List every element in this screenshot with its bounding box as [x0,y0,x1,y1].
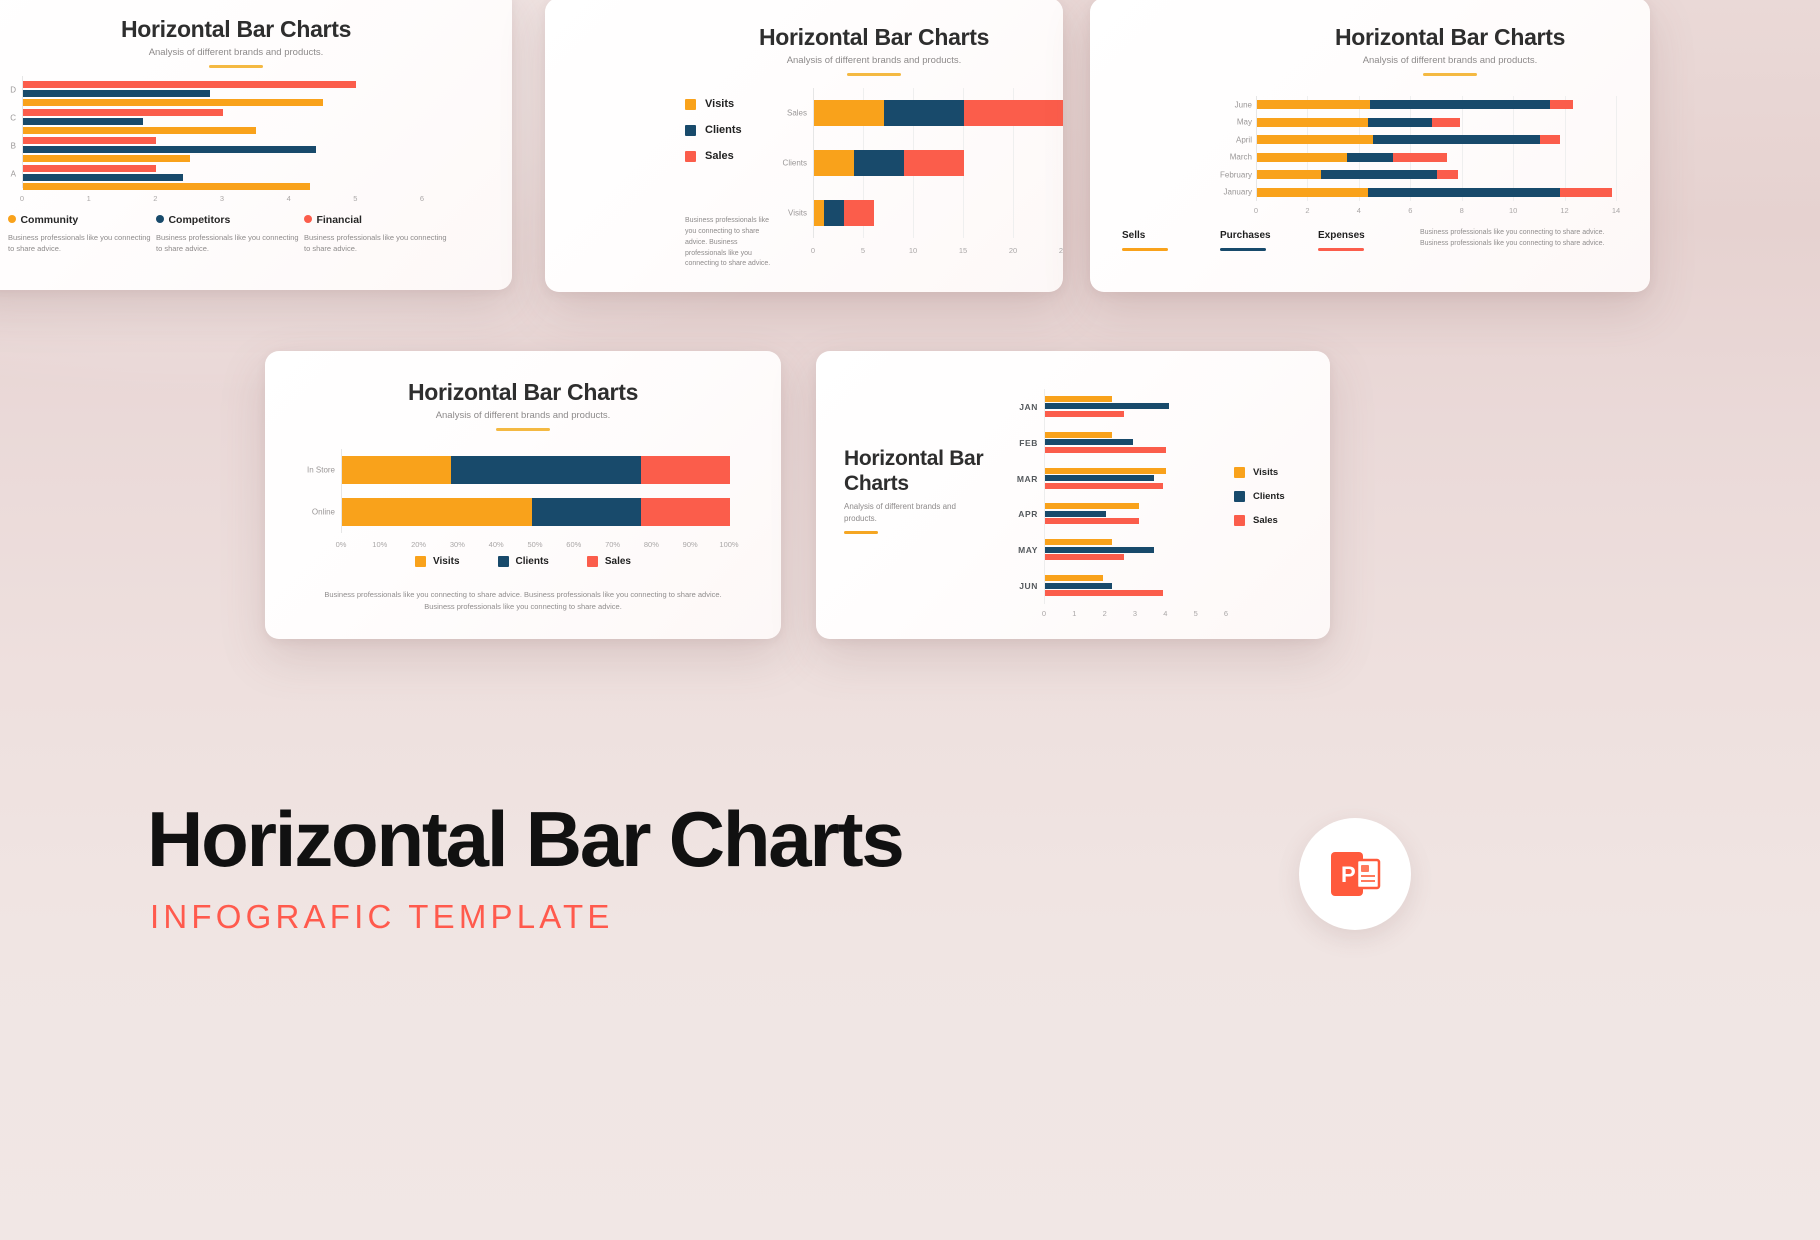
legend-item-clients[interactable]: Clients [498,556,549,567]
segment-expenses-June[interactable] [1550,100,1573,109]
card2-header: Horizontal Bar Charts Analysis of differ… [545,0,1063,76]
y-axis-line [1044,389,1045,604]
month-label-mar: MAR [998,474,1038,484]
x-tick-label: 1 [87,194,91,203]
gridline [1616,96,1617,201]
legend-item-clients[interactable]: Clients [685,124,742,136]
bar-visits-jun[interactable] [1045,575,1103,581]
expenses-color-line [1318,248,1364,251]
legend-label: Sales [1253,515,1278,526]
legend-item-financial[interactable]: Financial Business professionals like yo… [304,210,452,255]
bar-sales-jun[interactable] [1045,590,1163,596]
card2-accent-rule [847,73,901,76]
bar-clients-mar[interactable] [1045,475,1154,481]
card1-accent-rule [209,65,263,68]
x-tick-label: 3 [220,194,224,203]
slide-card-monthly-grouped[interactable]: Horizontal Bar Charts Analysis of differ… [816,351,1330,639]
card1-title: Horizontal Bar Charts [0,16,512,43]
segment-expenses-January[interactable] [1560,188,1611,197]
x-tick-label: 10% [372,540,387,549]
legend-label: Financial [316,214,362,226]
bar-sales-jan[interactable] [1045,411,1124,417]
bar-sales-may[interactable] [1045,554,1124,560]
segment-clients-online[interactable] [532,498,641,526]
legend-item-visits[interactable]: Visits [685,98,742,110]
segment-clients-Visits[interactable] [824,200,844,226]
sales-color-swatch [587,556,598,567]
bar-visits-feb[interactable] [1045,432,1112,438]
legend-label: Visits [433,556,460,567]
legend-item-purchases[interactable]: Purchases [1220,230,1318,251]
purchases-color-line [1220,248,1266,251]
bar-sales-apr[interactable] [1045,518,1139,524]
x-tick-label: 40% [489,540,504,549]
segment-visits-Clients[interactable] [814,150,854,176]
bar-competitors-C[interactable] [23,118,143,125]
legend-label: Sales [705,150,734,162]
x-tick-label: 20% [411,540,426,549]
card2-title: Horizontal Bar Charts [685,24,1063,51]
segment-sells-April[interactable] [1257,135,1373,144]
bar-competitors-A[interactable] [23,174,183,181]
powerpoint-icon: P [1299,818,1411,930]
clients-color-swatch [685,125,696,136]
x-tick-label: 4 [287,194,291,203]
segment-sells-February[interactable] [1257,170,1321,179]
x-tick-label: 25 [1059,246,1063,255]
category-label: June [1212,100,1252,109]
x-tick-label: 15 [959,246,967,255]
legend-item-visits[interactable]: Visits [415,556,460,567]
x-tick-label: 8 [1460,206,1464,215]
bar-clients-jan[interactable] [1045,403,1169,409]
legend-label: Visits [1253,467,1278,478]
card5-chart[interactable]: 0123456JANFEBMARAPRMAYJUN [1044,389,1226,604]
month-label-apr: APR [998,509,1038,519]
bar-community-B[interactable] [23,155,190,162]
page-title: Horizontal Bar Charts [147,800,1247,878]
month-label-jun: JUN [998,581,1038,591]
bar-community-A[interactable] [23,183,310,190]
card3-title: Horizontal Bar Charts [1250,24,1650,51]
segment-purchases-January[interactable] [1368,188,1561,197]
card5-subtitle: Analysis of different brands and product… [844,501,984,525]
gridline [1462,96,1463,201]
segment-clients-Clients[interactable] [854,150,904,176]
category-label: January [1212,188,1252,197]
svg-text:P: P [1341,862,1356,887]
legend-item-sales[interactable]: Sales [1234,515,1285,526]
gridline [1565,96,1566,201]
x-tick-label: 50% [527,540,542,549]
bar-visits-apr[interactable] [1045,503,1139,509]
slide-card-monthly-stacked[interactable]: Horizontal Bar Charts Analysis of differ… [1090,0,1650,292]
segment-purchases-June[interactable] [1370,100,1550,109]
slide-card-grouped-bars[interactable]: Horizontal Bar Charts Analysis of differ… [0,0,512,290]
card3-legend: Sells Purchases Expenses [1122,230,1416,251]
clients-color-swatch [1234,491,1245,502]
x-tick-label: 20 [1009,246,1017,255]
visits-color-swatch [685,99,696,110]
category-label: B [0,142,16,151]
x-tick-label: 14 [1612,206,1620,215]
card5-title: Horizontal Bar Charts [844,447,1004,497]
category-label: February [1212,170,1252,179]
legend-desc: Business professionals like you connecti… [8,232,156,255]
card1-header: Horizontal Bar Charts Analysis of differ… [0,0,512,68]
x-tick-label: 60% [566,540,581,549]
bar-visits-jan[interactable] [1045,396,1112,402]
x-tick-label: 2 [153,194,157,203]
segment-sales-Visits[interactable] [844,200,874,226]
y-axis-line [1256,96,1257,201]
gridline [1307,96,1308,201]
card1-subtitle: Analysis of different brands and product… [0,47,512,58]
card4-caption: Business professionals like you connecti… [323,589,723,613]
segment-visits-Sales[interactable] [814,100,884,126]
legend-label: Purchases [1220,230,1318,241]
x-tick-label: 6 [1224,609,1228,618]
bar-financial-C[interactable] [23,109,223,116]
category-label: A [0,170,16,179]
segment-expenses-May[interactable] [1432,118,1460,127]
bar-clients-apr[interactable] [1045,511,1106,517]
x-tick-label: 4 [1357,206,1361,215]
bar-financial-B[interactable] [23,137,156,144]
x-tick-label: 10 [909,246,917,255]
segment-sales-online[interactable] [641,498,730,526]
category-label: May [1212,118,1252,127]
x-tick-label: 100% [719,540,738,549]
segment-expenses-April[interactable] [1540,135,1561,144]
x-tick-label: 0 [1254,206,1258,215]
financial-color-dot [304,215,312,223]
card3-accent-rule [1423,73,1477,76]
month-label-jan: JAN [998,402,1038,412]
segment-clients-Sales[interactable] [884,100,964,126]
gridline [1359,96,1360,201]
segment-sells-June[interactable] [1257,100,1370,109]
card1-chart[interactable]: 0123456ABCD [22,76,422,188]
month-label-may: MAY [998,545,1038,555]
bar-visits-mar[interactable] [1045,468,1166,474]
card2-body-text: Business professionals like you connecti… [685,216,777,270]
x-tick-label: 1 [1072,609,1076,618]
legend-label: Expenses [1318,230,1416,241]
segment-sells-January[interactable] [1257,188,1368,197]
legend-label: Sales [605,556,631,567]
segment-sales-in-store[interactable] [641,456,730,484]
legend-desc: Business professionals like you connecti… [156,232,304,255]
card2-legend: Visits Clients Sales [685,98,742,176]
x-tick-label: 80% [644,540,659,549]
x-tick-label: 3 [1133,609,1137,618]
legend-label: Community [20,214,78,226]
category-label: Online [291,508,335,517]
bar-community-C[interactable] [23,127,256,134]
legend-item-sales[interactable]: Sales [685,150,742,162]
competitors-color-dot [156,215,164,223]
category-label: March [1212,153,1252,162]
x-tick-label: 5 [1194,609,1198,618]
legend-label: Sells [1122,230,1220,241]
segment-purchases-May[interactable] [1368,118,1432,127]
legend-item-expenses[interactable]: Expenses [1318,230,1416,251]
x-tick-label: 6 [1408,206,1412,215]
gridline [1410,96,1411,201]
x-tick-label: 2 [1305,206,1309,215]
bar-community-D[interactable] [23,99,323,106]
card3-subtitle: Analysis of different brands and product… [1250,55,1650,66]
card2-subtitle: Analysis of different brands and product… [685,55,1063,66]
card3-chart[interactable]: 02468101214JanuaryFebruaryMarchAprilMayJ… [1256,96,1616,201]
segment-purchases-February[interactable] [1321,170,1437,179]
card5-accent-rule [844,531,878,534]
bar-financial-A[interactable] [23,165,156,172]
x-tick-label: 4 [1163,609,1167,618]
segment-visits-in-store[interactable] [342,456,451,484]
segment-clients-in-store[interactable] [451,456,641,484]
bar-sales-mar[interactable] [1045,483,1163,489]
bar-clients-feb[interactable] [1045,439,1133,445]
card4-chart[interactable]: 0%10%20%30%40%50%60%70%80%90%100%OnlineI… [341,449,729,533]
sales-color-swatch [685,151,696,162]
card1-legend: Community Business professionals like yo… [8,210,468,255]
segment-visits-Visits[interactable] [814,200,824,226]
legend-item-clients[interactable]: Clients [1234,491,1285,502]
page-subtitle: INFOGRAFIC TEMPLATE [150,898,614,936]
category-label: Clients [779,159,807,168]
segment-visits-online[interactable] [342,498,532,526]
card2-chart[interactable]: 051015202530VisitsClientsSales [813,88,1063,238]
slide-card-stacked-bars[interactable]: Horizontal Bar Charts Analysis of differ… [545,0,1063,292]
x-tick-label: 30% [450,540,465,549]
bar-visits-may[interactable] [1045,539,1112,545]
card3-note: Business professionals like you connecti… [1420,228,1620,250]
category-label: C [0,114,16,123]
x-tick-label: 6 [420,194,424,203]
x-tick-label: 0 [20,194,24,203]
bar-sales-feb[interactable] [1045,447,1166,453]
category-label: In Store [291,466,335,475]
card4-accent-rule [496,428,550,431]
bar-clients-may[interactable] [1045,547,1154,553]
legend-item-sells[interactable]: Sells [1122,230,1220,251]
segment-purchases-March[interactable] [1347,153,1393,162]
segment-expenses-February[interactable] [1437,170,1458,179]
category-label: Sales [779,109,807,118]
card4-legend: Visits Clients Sales [265,556,781,567]
x-tick-label: 0 [811,246,815,255]
bar-competitors-B[interactable] [23,146,316,153]
x-tick-label: 70% [605,540,620,549]
x-tick-label: 0% [336,540,347,549]
card4-title: Horizontal Bar Charts [265,379,781,406]
legend-label: Clients [705,124,742,136]
gridline [1513,96,1514,201]
x-tick-label: 0 [1042,609,1046,618]
legend-label: Clients [516,556,549,567]
month-label-feb: FEB [998,438,1038,448]
slide-card-percent-stacked[interactable]: Horizontal Bar Charts Analysis of differ… [265,351,781,639]
powerpoint-glyph: P [1325,844,1385,904]
category-label: April [1212,135,1252,144]
bar-clients-jun[interactable] [1045,583,1112,589]
segment-sales-Clients[interactable] [904,150,964,176]
bar-competitors-D[interactable] [23,90,210,97]
visits-color-swatch [1234,467,1245,478]
bar-financial-D[interactable] [23,81,356,88]
segment-sells-May[interactable] [1257,118,1368,127]
legend-item-visits[interactable]: Visits [1234,467,1285,478]
legend-item-sales[interactable]: Sales [587,556,631,567]
card5-legend: Visits Clients Sales [1234,467,1285,539]
x-tick-label: 5 [353,194,357,203]
segment-expenses-March[interactable] [1393,153,1447,162]
card4-header: Horizontal Bar Charts Analysis of differ… [265,351,781,431]
legend-label: Clients [1253,491,1285,502]
x-tick-label: 90% [683,540,698,549]
segment-sales-Sales[interactable] [964,100,1063,126]
sales-color-swatch [1234,515,1245,526]
clients-color-swatch [498,556,509,567]
x-tick-label: 2 [1103,609,1107,618]
category-label: Visits [779,209,807,218]
card3-header: Horizontal Bar Charts Analysis of differ… [1090,0,1650,76]
visits-color-swatch [415,556,426,567]
legend-label: Visits [705,98,734,110]
card4-subtitle: Analysis of different brands and product… [265,410,781,421]
segment-sells-March[interactable] [1257,153,1347,162]
segment-purchases-April[interactable] [1373,135,1540,144]
x-tick-label: 12 [1560,206,1568,215]
x-tick-label: 5 [861,246,865,255]
legend-label: Competitors [168,214,230,226]
x-tick-label: 10 [1509,206,1517,215]
sells-color-line [1122,248,1168,251]
legend-desc: Business professionals like you connecti… [304,232,452,255]
legend-item-community[interactable]: Community Business professionals like yo… [8,210,156,255]
community-color-dot [8,215,16,223]
legend-item-competitors[interactable]: Competitors Business professionals like … [156,210,304,255]
category-label: D [0,86,16,95]
